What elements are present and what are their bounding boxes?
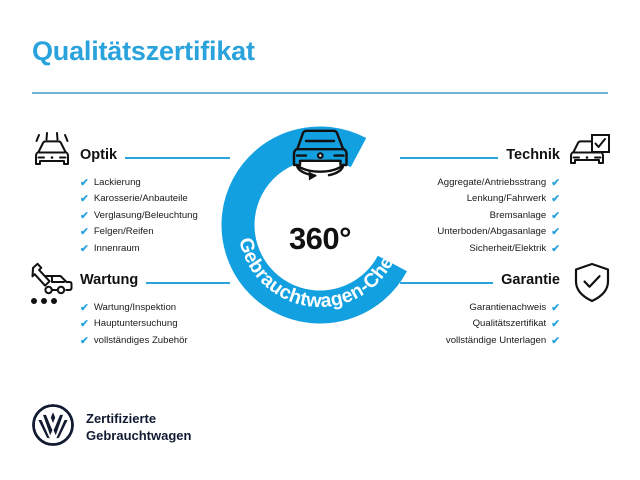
vw-logo-icon [32,404,74,451]
car-rotate-icon [272,121,368,193]
section-garantie: Garantie Garantienachweis✔ Qualitätszert… [400,273,560,349]
list-item-label: Innenraum [94,241,140,258]
list-item: ✔Verglasung/Beleuchtung [80,208,230,225]
footer-line-2: Gebrauchtwagen [86,428,191,445]
check-icon: ✔ [80,336,89,347]
list-item-label: Unterboden/Abgasanlage [437,224,546,241]
check-icon: ✔ [80,227,89,238]
list-item-label: Karosserie/Anbauteile [94,191,188,208]
list-item-label: Bremsanlage [490,208,547,225]
section-garantie-header: Garantie [400,273,560,288]
check-icon: ✔ [80,244,89,255]
check-icon: ✔ [551,244,560,255]
section-garantie-title: Garantie [501,273,560,288]
list-item-label: Qualitätszertifikat [473,316,547,333]
list-item: Sicherheit/Elektrik✔ [400,241,560,258]
list-item: Unterboden/Abgasanlage✔ [400,224,560,241]
footer-branding: Zertifizierte Gebrauchtwagen [32,404,191,451]
list-item: ✔Wartung/Inspektion [80,300,230,317]
list-item-label: vollständiges Zubehör [94,333,188,350]
section-technik-header: Technik [400,148,560,163]
check-icon: ✔ [80,178,89,189]
check-icon: ✔ [551,336,560,347]
list-item: ✔Felgen/Reifen [80,224,230,241]
section-wartung-header: Wartung [80,273,230,288]
section-wartung: Wartung ✔Wartung/Inspektion ✔Hauptunters… [80,273,230,349]
header-divider [32,92,608,94]
page-title: Qualitätszertifikat [32,36,255,67]
list-item: vollständige Unterlagen✔ [400,333,560,350]
footer-line-1: Zertifizierte [86,411,191,428]
check-icon: ✔ [551,303,560,314]
list-item: Aggregate/Antriebsstrang✔ [400,175,560,192]
list-item-label: Felgen/Reifen [94,224,154,241]
shield-check-icon [573,262,611,309]
list-item-label: Garantienachweis [469,300,546,317]
section-optik-title: Optik [80,148,117,163]
list-item: ✔Innenraum [80,241,230,258]
section-optik-list: ✔Lackierung ✔Karosserie/Anbauteile ✔Verg… [80,175,230,258]
list-item-label: Wartung/Inspektion [94,300,176,317]
check-icon: ✔ [551,319,560,330]
section-wartung-list: ✔Wartung/Inspektion ✔Hauptuntersuchung ✔… [80,300,230,350]
car-shine-icon [28,132,76,179]
car-checkbox-icon [566,133,612,178]
section-wartung-title: Wartung [80,273,138,288]
section-technik-list: Aggregate/Antriebsstrang✔ Lenkung/Fahrwe… [400,175,560,258]
section-garantie-list: Garantienachweis✔ Qualitätszertifikat✔ v… [400,300,560,350]
list-item: Garantienachweis✔ [400,300,560,317]
list-item: Bremsanlage✔ [400,208,560,225]
badge-360-gebrauchtwagen-check: Gebrauchtwagen-Check 360° [220,125,420,325]
check-icon: ✔ [80,319,89,330]
section-wartung-rule [146,282,230,284]
badge-center-label: 360° [220,221,420,257]
section-technik-title: Technik [506,148,560,163]
list-item-label: Hauptuntersuchung [94,316,178,333]
list-item-label: Verglasung/Beleuchtung [94,208,198,225]
list-item-label: Sicherheit/Elektrik [469,241,546,258]
list-item: ✔Lackierung [80,175,230,192]
check-icon: ✔ [80,194,89,205]
section-optik-rule [125,157,230,159]
check-icon: ✔ [551,211,560,222]
list-item-label: Aggregate/Antriebsstrang [437,175,546,192]
section-technik: Technik Aggregate/Antriebsstrang✔ Lenkun… [400,148,560,257]
check-icon: ✔ [551,227,560,238]
check-icon: ✔ [551,178,560,189]
list-item: Lenkung/Fahrwerk✔ [400,191,560,208]
list-item-label: Lackierung [94,175,141,192]
list-item: ✔vollständiges Zubehör [80,333,230,350]
list-item: ✔Hauptuntersuchung [80,316,230,333]
wrench-car-icon [24,262,76,311]
check-icon: ✔ [80,303,89,314]
section-optik-header: Optik [80,148,230,163]
check-icon: ✔ [80,211,89,222]
footer-text: Zertifizierte Gebrauchtwagen [86,411,191,444]
section-optik: Optik ✔Lackierung ✔Karosserie/Anbauteile… [80,148,230,257]
check-icon: ✔ [551,194,560,205]
list-item-label: vollständige Unterlagen [446,333,546,350]
list-item: Qualitätszertifikat✔ [400,316,560,333]
qualitaetszertifikat-page: Qualitätszertifikat Optik ✔Lackierung ✔K… [0,0,640,480]
list-item-label: Lenkung/Fahrwerk [467,191,546,208]
list-item: ✔Karosserie/Anbauteile [80,191,230,208]
